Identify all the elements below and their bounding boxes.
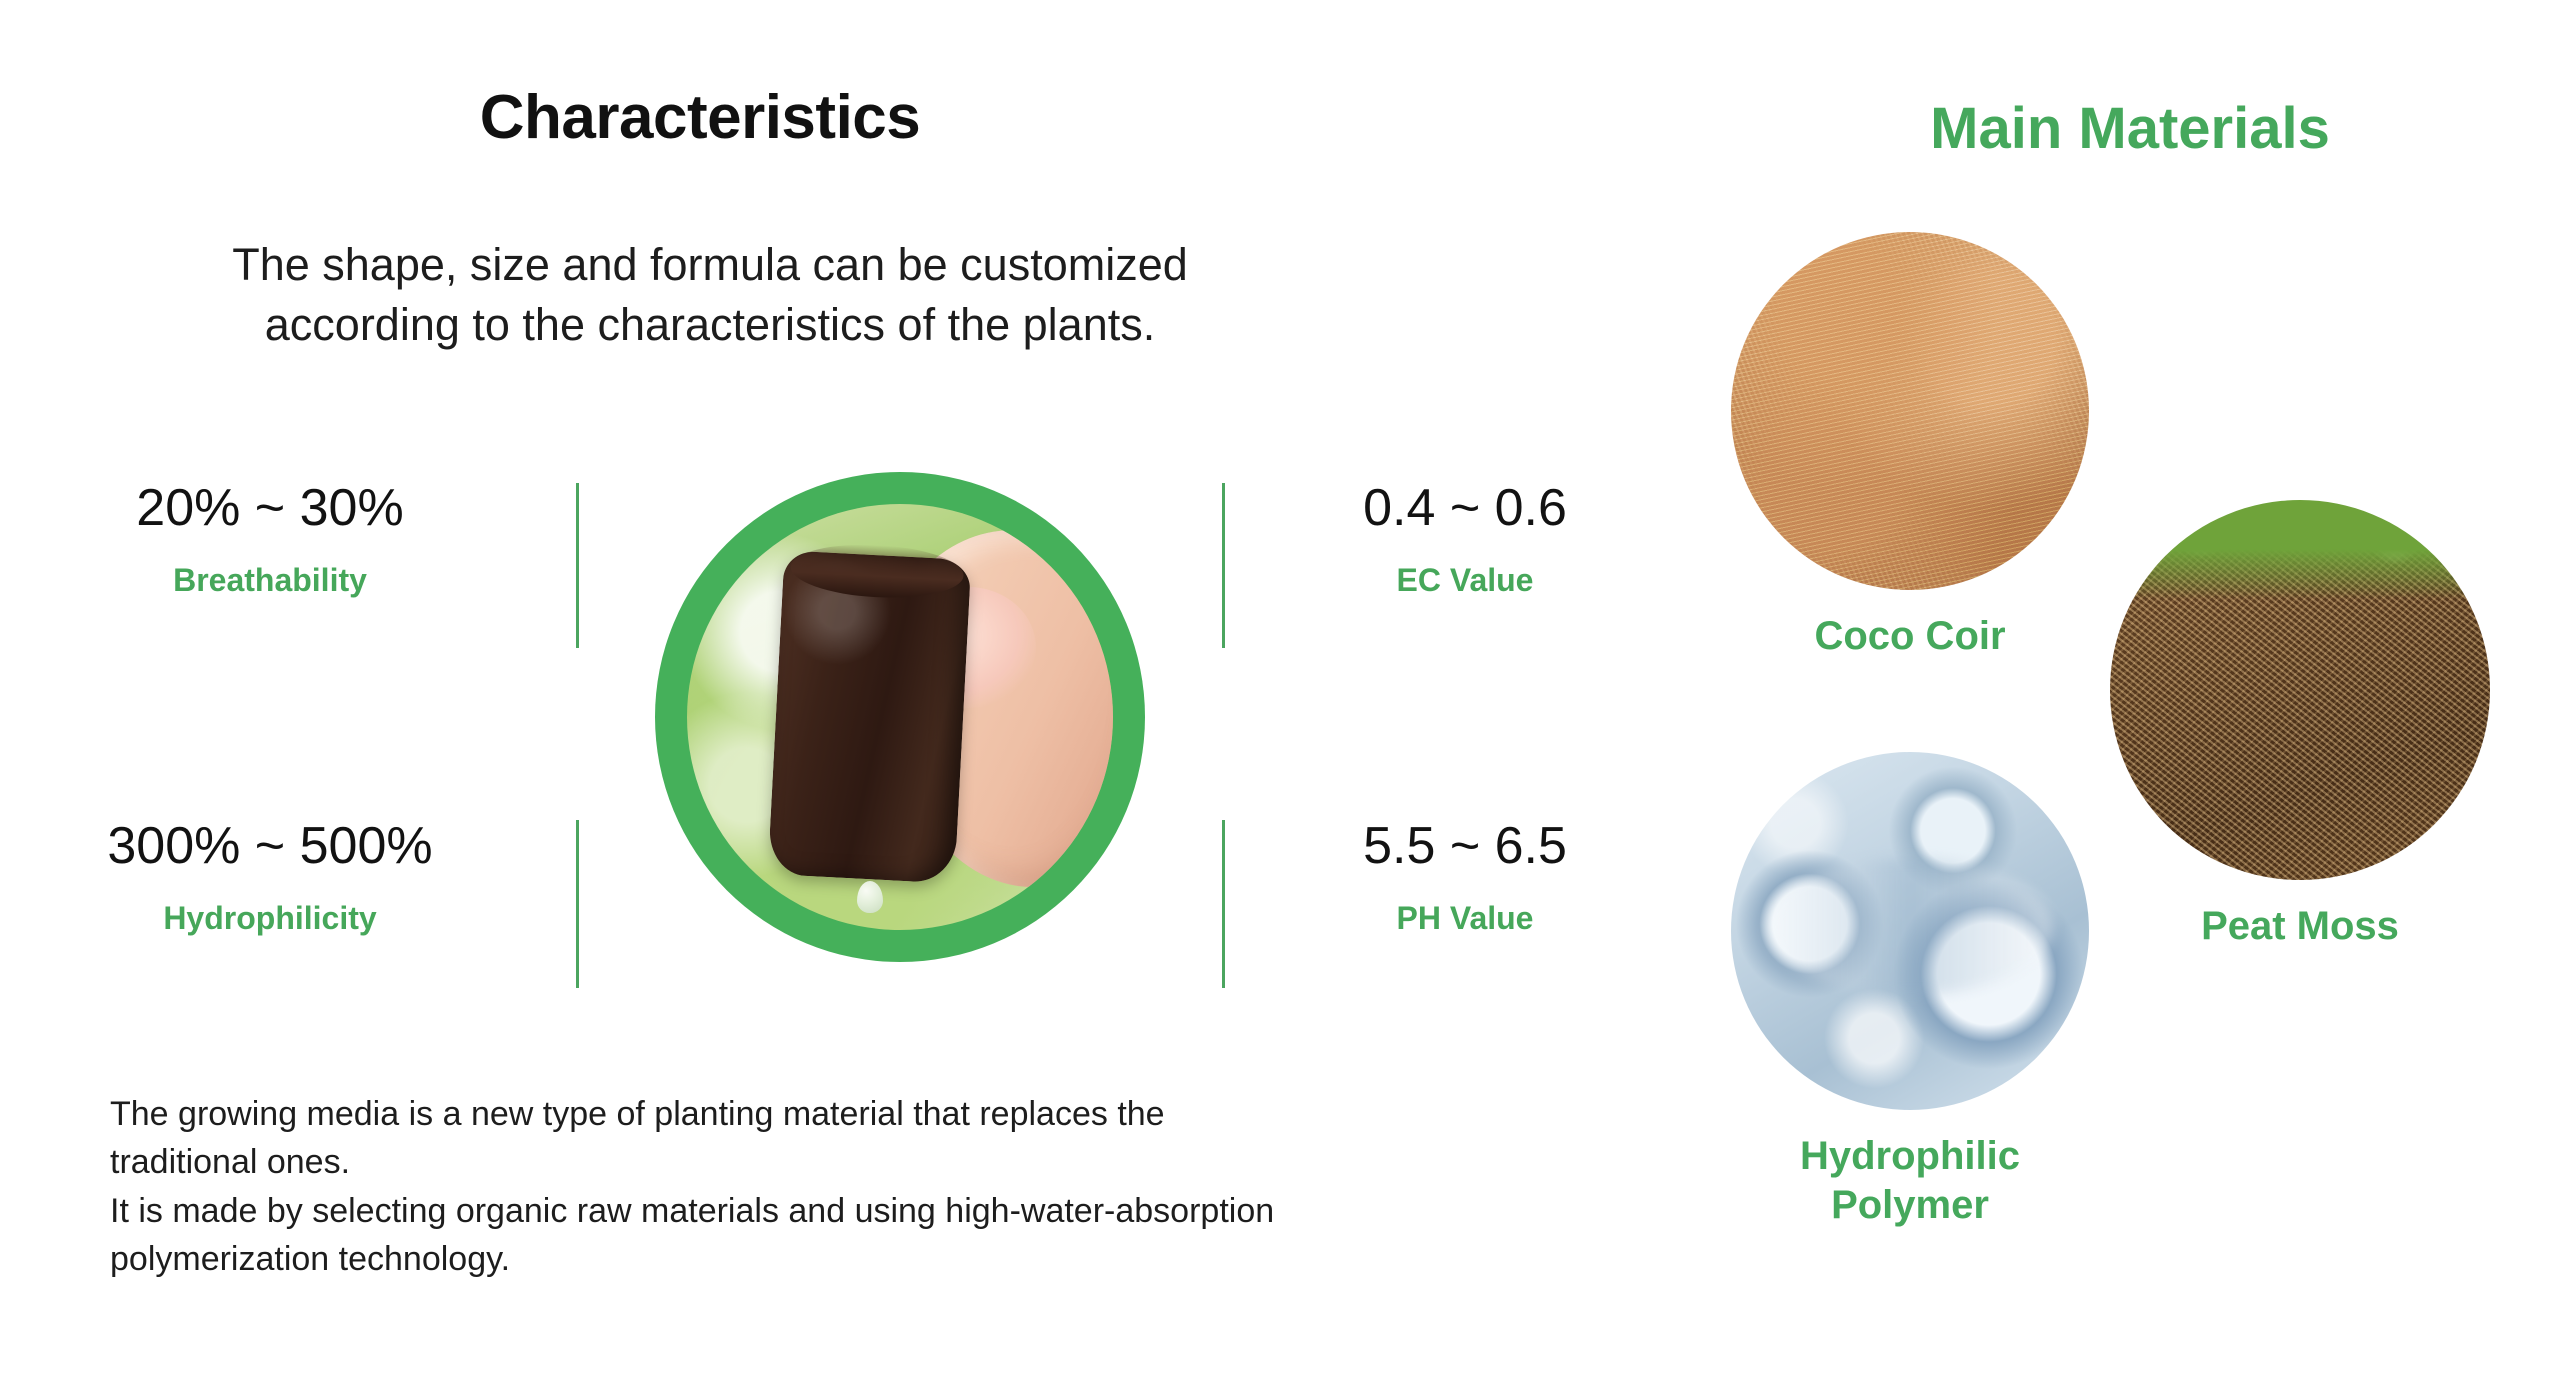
divider-right-bottom (1222, 820, 1225, 988)
stat-label: Hydrophilicity (0, 901, 540, 936)
stat-value: 300% ~ 500% (0, 818, 540, 875)
characteristics-panel: Characteristics The shape, size and form… (0, 0, 1700, 1400)
intro-line-2: according to the characteristics of the … (0, 295, 1420, 355)
divider-left-top (576, 483, 579, 648)
stat-label: Breathability (0, 563, 540, 598)
divider-left-bottom (576, 820, 579, 988)
material-peat-moss: Peat Moss (2100, 500, 2500, 951)
hero-photo-ring (655, 472, 1145, 962)
stat-hydrophilicity: 300% ~ 500% Hydrophilicity (0, 818, 540, 936)
coco-coir-photo (1731, 232, 2089, 590)
hero-product-photo (687, 504, 1113, 930)
material-label: Coco Coir (1720, 612, 2100, 661)
material-label-line-2: Polymer (1720, 1181, 2100, 1230)
stat-ph-value: 5.5 ~ 6.5 PH Value (1245, 818, 1685, 936)
description-line-2: traditional ones. (110, 1138, 1730, 1186)
divider-right-top (1222, 483, 1225, 648)
stat-label: EC Value (1245, 563, 1685, 598)
material-label-line-1: Hydrophilic (1720, 1132, 2100, 1181)
material-hydrophilic-polymer: Hydrophilic Polymer (1720, 752, 2100, 1230)
stat-ec-value: 0.4 ~ 0.6 EC Value (1245, 480, 1685, 598)
stat-value: 5.5 ~ 6.5 (1245, 818, 1685, 875)
description-line-3: It is made by selecting organic raw mate… (110, 1187, 1730, 1235)
material-label: Hydrophilic Polymer (1720, 1132, 2100, 1230)
water-drop-shape (857, 881, 883, 913)
description-line-4: polymerization technology. (110, 1235, 1730, 1283)
page-title: Characteristics (0, 82, 1400, 153)
peat-moss-photo (2110, 500, 2490, 880)
main-materials-panel: Main Materials Coco Coir Peat Moss Hydro… (1700, 0, 2560, 1400)
description-text: The growing media is a new type of plant… (110, 1090, 1730, 1283)
material-coco-coir: Coco Coir (1720, 232, 2100, 661)
stat-label: PH Value (1245, 901, 1685, 936)
materials-title: Main Materials (1700, 95, 2560, 162)
growing-media-plug-shape (768, 550, 972, 883)
description-line-1: The growing media is a new type of plant… (110, 1090, 1730, 1138)
material-label: Peat Moss (2100, 902, 2500, 951)
stat-breathability: 20% ~ 30% Breathability (0, 480, 540, 598)
hydrophilic-polymer-photo (1731, 752, 2089, 1110)
stat-value: 20% ~ 30% (0, 480, 540, 537)
intro-text: The shape, size and formula can be custo… (0, 235, 1420, 356)
stat-value: 0.4 ~ 0.6 (1245, 480, 1685, 537)
intro-line-1: The shape, size and formula can be custo… (0, 235, 1420, 295)
